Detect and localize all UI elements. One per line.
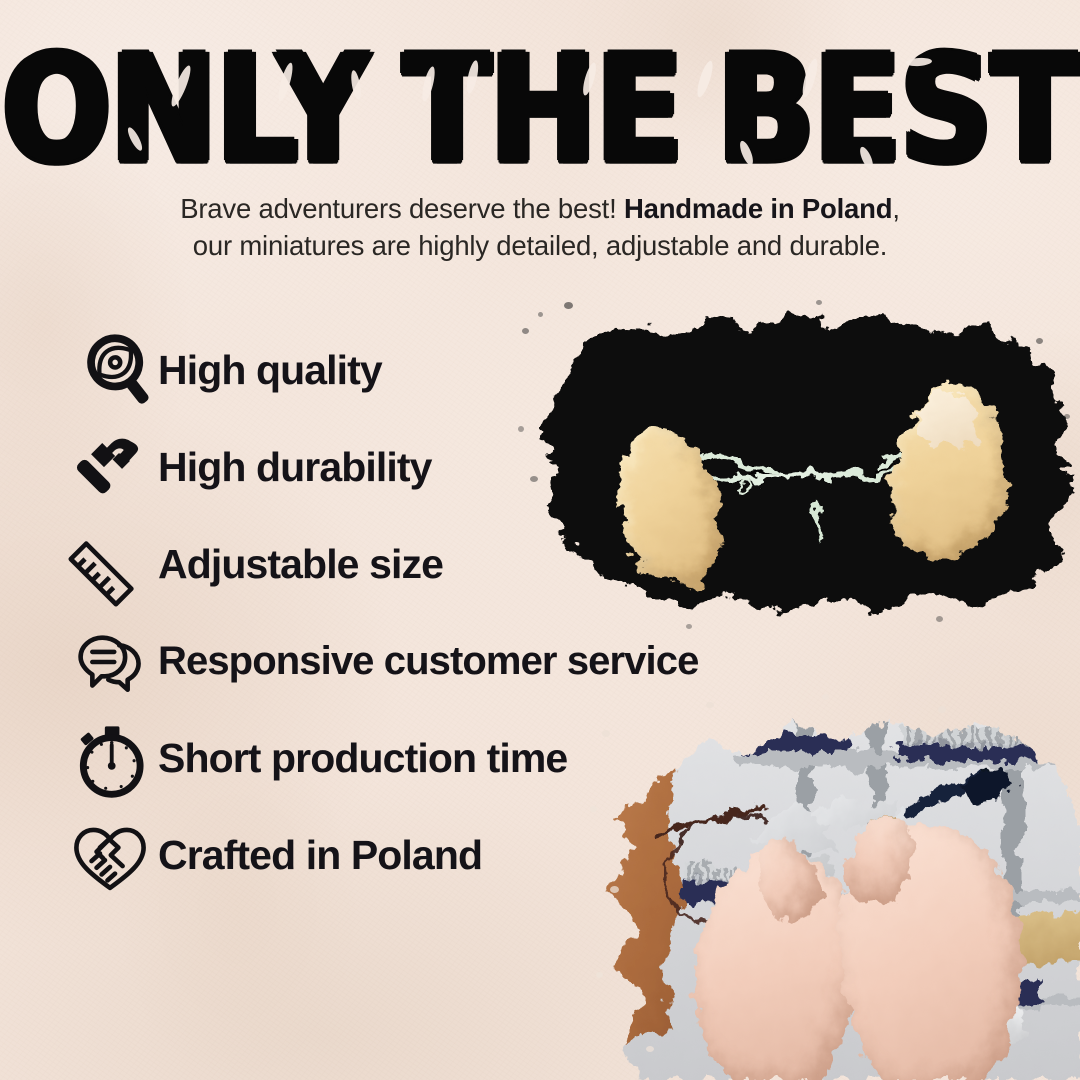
- subtitle-lead: Brave adventurers deserve the best!: [180, 193, 624, 224]
- subtitle-emphasis: Handmade in Poland: [624, 193, 892, 224]
- hammer-icon: [62, 425, 158, 511]
- miniature-tray: [744, 734, 850, 753]
- photo-torn-edge-mask: [600, 700, 1080, 1080]
- miniature-in-fingers-photo: [530, 308, 1078, 626]
- feature-label: High quality: [158, 347, 382, 394]
- feature-label: Crafted in Poland: [158, 832, 482, 879]
- subtitle-line-2: our miniatures are highly detailed, adju…: [0, 227, 1080, 264]
- headline-word-1: ONLY: [2, 36, 368, 184]
- speech-bubbles-icon: [62, 620, 158, 704]
- headline-word-2: THE: [403, 36, 682, 184]
- feature-label: Responsive customer service: [158, 639, 698, 684]
- feature-label: High durability: [158, 444, 432, 491]
- miniature-part: [812, 499, 824, 544]
- tray-sprues: [902, 727, 1027, 746]
- magnifier-eye-icon: [62, 328, 158, 414]
- feature-label: Short production time: [158, 735, 567, 782]
- subtitle: Brave adventurers deserve the best! Hand…: [0, 190, 1080, 265]
- photo-torn-edge-mask: [530, 308, 1078, 626]
- fingertip-left: [600, 416, 734, 594]
- subtitle-line-1: Brave adventurers deserve the best! Hand…: [0, 190, 1080, 227]
- feature-item-responsive-customer-service: Responsive customer service: [62, 613, 822, 710]
- heart-handshake-icon: [62, 814, 158, 898]
- photo-backdrop: [530, 308, 1078, 626]
- headline-word-3: BEST: [717, 36, 1078, 184]
- photo-scene: [600, 700, 1080, 1080]
- feature-label: Adjustable size: [158, 541, 443, 588]
- subtitle-tail: ,: [892, 193, 899, 224]
- stopwatch-icon: [62, 716, 158, 802]
- miniature-ring: [736, 483, 749, 496]
- ruler-icon: [62, 523, 158, 607]
- workshop-hands-photo: [600, 700, 1080, 1080]
- page-title: ONLY THE BEST: [0, 36, 1080, 164]
- poster-canvas: ONLY THE BEST Brave adventurers deserve …: [0, 0, 1080, 1080]
